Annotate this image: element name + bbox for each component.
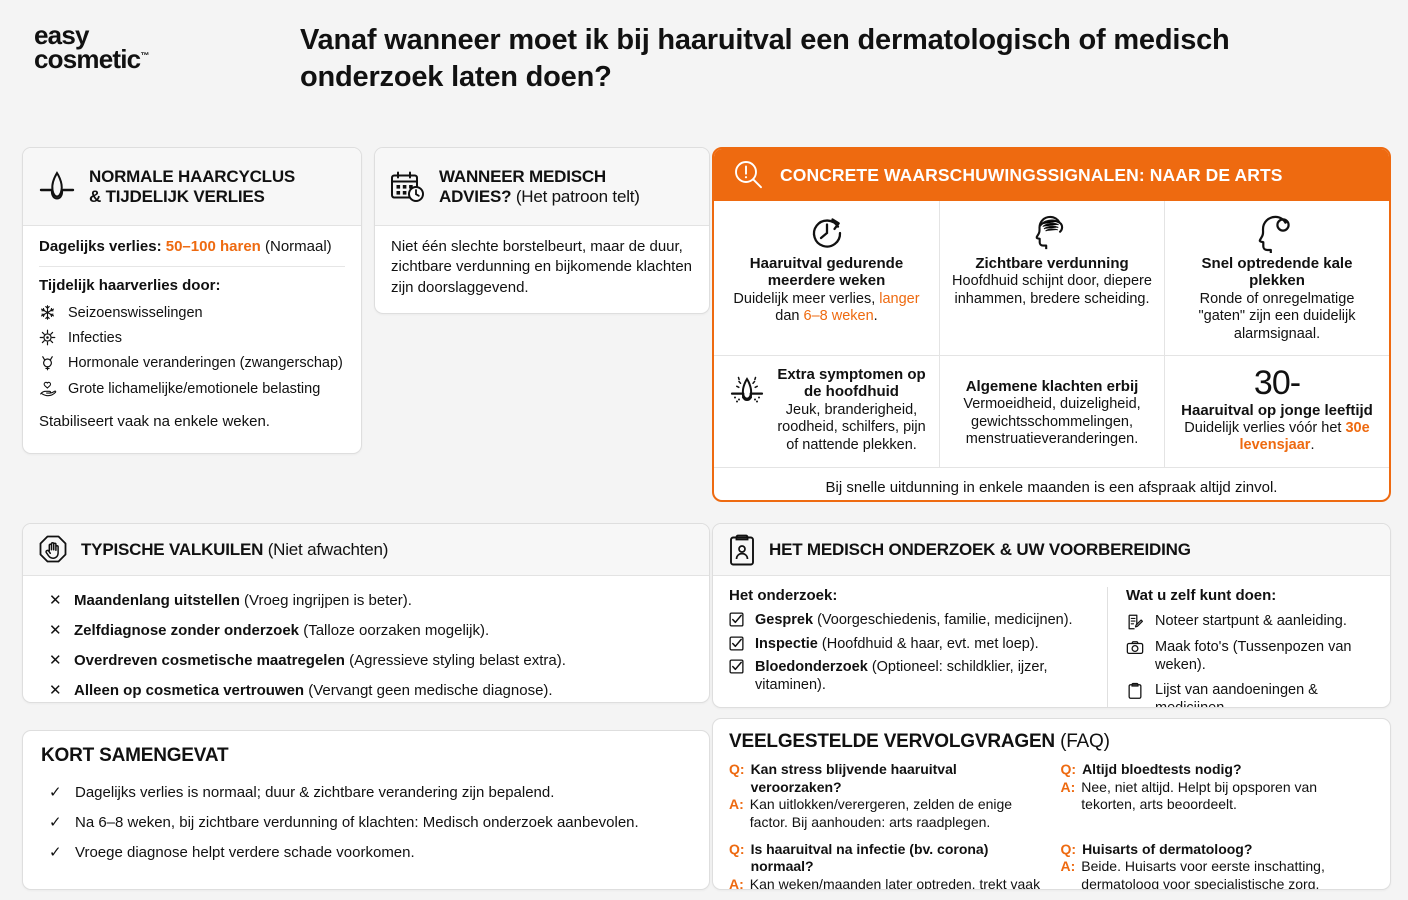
pitfalls-list: ✕ Maandenlang uitstellen (Vroeg ingrijpe… <box>39 586 693 703</box>
exam-column-right: Wat u zelf kunt doen: Noteer startpunt &… <box>1107 587 1374 708</box>
faq-grid: Q:Kan stress blijvende haaruitval veroor… <box>729 761 1374 890</box>
list-item: Grote lichamelijke/emotionele belasting <box>39 377 345 402</box>
card-title: TYPISCHE VALKUILEN <box>81 540 263 559</box>
faq-answer: A:Nee, niet altijd. Helpt bij opsporen v… <box>1061 779 1375 814</box>
warning-desc: Ronde of onregelmatige "gaten" zijn een … <box>1177 291 1377 343</box>
list-item-label: Gesprek <box>755 612 813 628</box>
q-prefix: Q: <box>1061 841 1077 859</box>
faq-answer: A:Beide. Huisarts voor eerste inschattin… <box>1061 858 1375 890</box>
desc-mid: dan <box>775 308 803 324</box>
list-item: Lijst van aandoeningen & medicijnen. <box>1126 678 1374 708</box>
desc-highlight-2: 6–8 weken <box>804 308 874 324</box>
card-faq: VEELGESTELDE VERVOLGVRAGEN (FAQ) Q:Kan s… <box>712 718 1391 890</box>
a-prefix: A: <box>729 876 744 890</box>
list-item: ✕ Zelfdiagnose zonder onderzoek (Talloze… <box>39 616 693 646</box>
hormone-icon <box>39 354 59 371</box>
column-heading: Wat u zelf kunt doen: <box>1126 587 1374 604</box>
list-item-note: (Hoofdhuid & haar, evt. met loep). <box>822 636 1039 652</box>
head-bald-spot-icon <box>1177 211 1377 255</box>
list-item: ✕ Maandenlang uitstellen (Vroeg ingrijpe… <box>39 586 693 616</box>
faq-answer: A:Kan uitlokken/verergeren, zelden de en… <box>729 796 1043 831</box>
faq-answer-text: Kan uitlokken/verergeren, zelden de enig… <box>750 796 1043 831</box>
warning-desc: Vermoeidheid, duizeligheid, gewichtsscho… <box>952 396 1152 448</box>
list-item-note: (Talloze oorzaken mogelijk). <box>303 622 489 639</box>
exam-column-left: Het onderzoek: Gesprek (Voorgeschiedenis… <box>729 587 1107 708</box>
list-item-note: (Voorgeschiedenis, familie, medicijnen). <box>817 612 1073 628</box>
warning-cell-thinning: Zichtbare verdunning Hoofdhuid schijnt d… <box>939 201 1164 355</box>
faq-title-bold: VEELGESTELDE VERVOLGVRAGEN <box>729 731 1055 752</box>
faq-question: Q:Is haaruitval na infectie (bv. corona)… <box>729 841 1043 876</box>
list-item: Seizoenswisselingen <box>39 301 345 326</box>
card-header: NORMALE HAARCYCLUS & TIJDELIJK VERLIES <box>23 148 361 226</box>
list-item-label: Maak foto's (Tussenpozen van weken). <box>1155 639 1374 674</box>
desc-post: . <box>1310 437 1314 453</box>
warning-desc: Duidelijk verlies vóór het 30e levensjaa… <box>1177 420 1377 455</box>
list-item-label: Bloedonderzoek <box>755 659 868 675</box>
card-normal-hair-cycle: NORMALE HAARCYCLUS & TIJDELIJK VERLIES D… <box>22 147 362 454</box>
cross-icon: ✕ <box>49 681 63 701</box>
cycle-closing-text: Stabiliseert vaak na enkele weken. <box>39 412 345 432</box>
desc-post: . <box>874 308 878 324</box>
infographic-page: easy cosmetic™ Vanaf wanneer moet ik bij… <box>0 0 1408 900</box>
calendar-clock-icon <box>389 170 427 204</box>
card-body: Het onderzoek: Gesprek (Voorgeschiedenis… <box>713 576 1390 708</box>
card-body: Dagelijks verlies: 50–100 haren (Normaal… <box>23 226 361 446</box>
faq-question: Q:Altijd bloedtests nodig? <box>1061 761 1375 779</box>
list-item-label: Maandenlang uitstellen <box>74 592 240 609</box>
faq-answer-text: Beide. Huisarts voor eerste inschatting,… <box>1081 858 1374 890</box>
list-item-label: Infecties <box>68 329 122 348</box>
card-title-line-2-note: (Het patroon telt) <box>516 187 640 206</box>
brand-line-2: cosmetic <box>34 44 140 74</box>
list-item: ✓ Vroege diagnose helpt verdere schade v… <box>41 837 691 867</box>
panel-title: CONCRETE WAARSCHUWINGSSIGNALEN: NAAR DE … <box>780 165 1283 186</box>
warning-title: Algemene klachten erbij <box>952 378 1152 395</box>
note-pencil-icon <box>1126 613 1145 631</box>
card-title: VEELGESTELDE VERVOLGVRAGEN (FAQ) <box>729 731 1374 753</box>
list-item-label: Na 6–8 weken, bij zichtbare verdunning o… <box>75 814 639 831</box>
summary-list: ✓ Dagelijks verlies is normaal; duur & z… <box>41 777 691 867</box>
cross-icon: ✕ <box>49 591 63 611</box>
desc-pre: Duidelijk verlies vóór het <box>1184 420 1345 436</box>
exam-steps-list: Gesprek (Voorgeschiedenis, familie, medi… <box>729 609 1093 698</box>
list-item-label: Inspectie <box>755 636 818 652</box>
column-heading: Het onderzoek: <box>729 587 1093 604</box>
hair-follicle-icon <box>37 169 77 205</box>
desc-highlight-1: langer <box>879 291 919 307</box>
check-icon: ✓ <box>49 783 63 801</box>
list-item-label: Hormonale veranderingen (zwangerschap) <box>68 354 343 373</box>
card-title: HET MEDISCH ONDERZOEK & UW VOORBEREIDING <box>769 540 1191 560</box>
desc-pre: Duidelijk meer verlies, <box>733 291 879 307</box>
list-item: ✕ Alleen op cosmetica vertrouwen (Vervan… <box>39 676 693 703</box>
list-item: ✕ Overdreven cosmetische maatregelen (Ag… <box>39 646 693 676</box>
list-item: Maak foto's (Tussenpozen van weken). <box>1126 635 1374 678</box>
warning-grid-row-2: Extra symptomen op de hoofdhuid Jeuk, br… <box>714 355 1389 467</box>
warning-cell-scalp-symptoms: Extra symptomen op de hoofdhuid Jeuk, br… <box>714 356 939 467</box>
prep-list: Noteer startpunt & aanleiding. Maak foto… <box>1126 609 1374 708</box>
card-body: VEELGESTELDE VERVOLGVRAGEN (FAQ) Q:Kan s… <box>713 719 1390 890</box>
panel-warning-signals: CONCRETE WAARSCHUWINGSSIGNALEN: NAAR DE … <box>712 147 1391 502</box>
clock-arrow-icon <box>726 211 927 255</box>
list-item-label: Grote lichamelijke/emotionele belasting <box>68 380 320 399</box>
warning-desc: Hoofdhuid schijnt door, diepere inhammen… <box>952 273 1152 308</box>
warning-title: Haaruitval gedurende meerdere weken <box>726 255 927 290</box>
hand-heart-icon <box>39 380 59 397</box>
faq-title-note: (FAQ) <box>1060 731 1110 752</box>
camera-icon <box>1126 639 1145 657</box>
warning-cell-young-age: 30- Haaruitval op jonge leeftijd Duideli… <box>1164 356 1389 467</box>
warning-desc: Jeuk, branderigheid, roodheid, schilfers… <box>776 402 927 454</box>
list-item-label: Zelfdiagnose zonder onderzoek <box>74 622 299 639</box>
warning-title: Haaruitval op jonge leeftijd <box>1177 402 1377 419</box>
virus-icon <box>39 329 59 346</box>
checkbox-icon <box>729 659 746 674</box>
card-summary: KORT SAMENGEVAT ✓ Dagelijks verlies is n… <box>22 730 710 890</box>
warning-cell-bald-spots: Snel optredende kale plekken Ronde of on… <box>1164 201 1389 355</box>
warning-cell-duration: Haaruitval gedurende meerdere weken Duid… <box>714 201 939 355</box>
daily-loss-label: Dagelijks verlies: <box>39 238 162 255</box>
clipboard-person-icon <box>727 533 757 567</box>
card-title-line-2: ADVIES? <box>439 187 511 206</box>
card-header: TYPISCHE VALKUILEN (Niet afwachten) <box>23 524 709 576</box>
faq-item: Q:Altijd bloedtests nodig? A:Nee, niet a… <box>1061 761 1375 832</box>
faq-item: Q:Is haaruitval na infectie (bv. corona)… <box>729 841 1043 891</box>
faq-answer-text: Nee, niet altijd. Helpt bij opsporen van… <box>1081 779 1374 814</box>
warning-desc: Duidelijk meer verlies, langer dan 6–8 w… <box>726 291 927 326</box>
list-item: ✓ Dagelijks verlies is normaal; duur & z… <box>41 777 691 807</box>
check-icon: ✓ <box>49 813 63 831</box>
list-item-label: Vroege diagnose helpt verdere schade voo… <box>75 844 415 861</box>
faq-question-text: Huisarts of dermatoloog? <box>1082 841 1252 859</box>
page-title: Vanaf wanneer moet ik bij haaruitval een… <box>300 14 1408 96</box>
clipboard-icon <box>1126 682 1145 700</box>
checkbox-icon <box>729 612 746 627</box>
a-prefix: A: <box>1061 858 1076 890</box>
list-item-note: (Agressieve styling belast extra). <box>349 652 566 669</box>
panel-header: CONCRETE WAARSCHUWINGSSIGNALEN: NAAR DE … <box>714 149 1389 201</box>
warning-title: Zichtbare verdunning <box>952 255 1152 272</box>
age-threshold-number: 30- <box>1177 366 1377 402</box>
magnifier-alert-icon <box>732 159 766 191</box>
brand-logo: easy cosmetic™ <box>0 14 300 73</box>
card-title-line-1: NORMALE HAARCYCLUS <box>89 167 295 186</box>
causes-heading: Tijdelijk haarverlies door: <box>39 276 345 296</box>
list-item: Gesprek (Voorgeschiedenis, familie, medi… <box>729 609 1093 633</box>
cross-icon: ✕ <box>49 621 63 641</box>
list-item-note: (Vervangt geen medische diagnose). <box>308 682 552 699</box>
list-item: Noteer startpunt & aanleiding. <box>1126 609 1374 635</box>
daily-loss-note: (Normaal) <box>265 238 332 255</box>
card-title-line-1: WANNEER MEDISCH <box>439 167 606 186</box>
card-typical-pitfalls: TYPISCHE VALKUILEN (Niet afwachten) ✕ Ma… <box>22 523 710 703</box>
q-prefix: Q: <box>1061 761 1077 779</box>
trademark-symbol: ™ <box>140 50 148 60</box>
cross-icon: ✕ <box>49 651 63 671</box>
q-prefix: Q: <box>729 761 745 796</box>
panel-footer-note: Bij snelle uitdunning in enkele maanden … <box>714 467 1389 502</box>
a-prefix: A: <box>729 796 744 831</box>
list-item: ✓ Na 6–8 weken, bij zichtbare verdunning… <box>41 807 691 837</box>
list-item-label: Lijst van aandoeningen & medicijnen. <box>1155 682 1374 708</box>
card-body: ✕ Maandenlang uitstellen (Vroeg ingrijpe… <box>23 576 709 703</box>
faq-question: Q:Kan stress blijvende haaruitval veroor… <box>729 761 1043 796</box>
card-header: HET MEDISCH ONDERZOEK & UW VOORBEREIDING <box>713 524 1390 576</box>
daily-loss-row: Dagelijks verlies: 50–100 haren (Normaal… <box>39 237 345 266</box>
daily-loss-value: 50–100 haren <box>166 238 261 255</box>
faq-answer-text: Kan weken/maanden later optreden, trekt … <box>750 876 1043 890</box>
warning-title: Extra symptomen op de hoofdhuid <box>776 366 927 401</box>
card-header: WANNEER MEDISCH ADVIES? (Het patroon tel… <box>375 148 709 226</box>
list-item-label: Alleen op cosmetica vertrouwen <box>74 682 304 699</box>
irritated-scalp-icon <box>726 366 768 412</box>
list-item: Bloedonderzoek (Optioneel: schildklier, … <box>729 656 1093 697</box>
card-title-note: (Niet afwachten) <box>268 540 389 559</box>
card-title-line-2: & TIJDELIJK VERLIES <box>89 187 265 206</box>
warning-grid-row-1: Haaruitval gedurende meerdere weken Duid… <box>714 201 1389 355</box>
card-medical-exam: HET MEDISCH ONDERZOEK & UW VOORBEREIDING… <box>712 523 1391 708</box>
stop-hand-icon <box>37 534 69 566</box>
list-item-label: Noteer startpunt & aanleiding. <box>1155 613 1347 631</box>
warning-cell-general-complaints: Algemene klachten erbij Vermoeidheid, du… <box>939 356 1164 467</box>
faq-question-text: Is haaruitval na infectie (bv. corona) n… <box>751 841 1043 876</box>
list-item-label: Dagelijks verlies is normaal; duur & zic… <box>75 784 554 801</box>
faq-question-text: Kan stress blijvende haaruitval veroorza… <box>751 761 1043 796</box>
divider <box>39 266 345 267</box>
q-prefix: Q: <box>729 841 745 876</box>
causes-list: Seizoenswisselingen Infecties Hormonale … <box>39 301 345 402</box>
check-icon: ✓ <box>49 843 63 861</box>
card-when-medical-advice: WANNEER MEDISCH ADVIES? (Het patroon tel… <box>374 147 710 314</box>
snowflake-icon <box>39 304 59 321</box>
list-item-label: Overdreven cosmetische maatregelen <box>74 652 345 669</box>
faq-question: Q:Huisarts of dermatoloog? <box>1061 841 1375 859</box>
list-item-note: (Vroeg ingrijpen is beter). <box>244 592 412 609</box>
checkbox-icon <box>729 636 746 651</box>
page-header: easy cosmetic™ Vanaf wanneer moet ik bij… <box>0 0 1408 128</box>
faq-item: Q:Kan stress blijvende haaruitval veroor… <box>729 761 1043 832</box>
faq-question-text: Altijd bloedtests nodig? <box>1082 761 1241 779</box>
faq-item: Q:Huisarts of dermatoloog? A:Beide. Huis… <box>1061 841 1375 891</box>
faq-answer: A:Kan weken/maanden later optreden, trek… <box>729 876 1043 890</box>
a-prefix: A: <box>1061 779 1076 814</box>
list-item-label: Seizoenswisselingen <box>68 304 203 323</box>
list-item: Infecties <box>39 326 345 351</box>
card-body: Niet één slechte borstelbeurt, maar de d… <box>375 226 709 312</box>
warning-title: Snel optredende kale plekken <box>1177 255 1377 290</box>
list-item: Hormonale veranderingen (zwangerschap) <box>39 351 345 376</box>
card-title: KORT SAMENGEVAT <box>41 745 691 767</box>
card-body: KORT SAMENGEVAT ✓ Dagelijks verlies is n… <box>23 731 709 879</box>
head-thinning-icon <box>952 211 1152 255</box>
list-item: Inspectie (Hoofdhuid & haar, evt. met lo… <box>729 633 1093 657</box>
